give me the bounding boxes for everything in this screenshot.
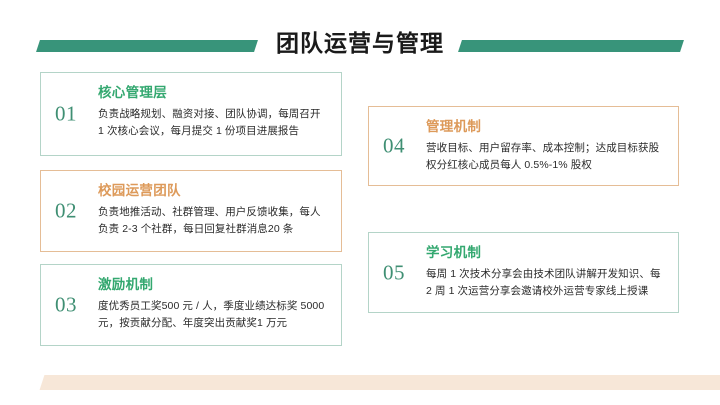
card-description: 度优秀员工奖500 元 / 人，季度业绩达标奖 5000 元，按贡献分配、年度突… xyxy=(98,298,329,332)
card-number: 02 xyxy=(55,201,77,222)
header-accent-bar-right xyxy=(458,40,684,52)
card-heading: 激励机制 xyxy=(98,276,329,294)
slide-canvas: 团队运营与管理 01 核心管理层 负责战略规划、融资对接、团队协调，每周召开 1… xyxy=(0,0,720,405)
card-body: 管理机制 营收目标、用户留存率、成本控制；达成目标获股权分红核心成员每人 0.5… xyxy=(426,118,666,174)
card-description: 负责战略规划、融资对接、团队协调，每周召开 1 次核心会议，每月提交 1 份项目… xyxy=(98,106,329,140)
content-card-05: 05 学习机制 每周 1 次技术分享会由技术团队讲解开发知识、每 2 周 1 次… xyxy=(368,232,679,313)
card-body: 核心管理层 负责战略规划、融资对接、团队协调，每周召开 1 次核心会议，每月提交… xyxy=(98,84,329,140)
card-heading: 学习机制 xyxy=(426,244,666,262)
content-card-02: 02 校园运营团队 负责地推活动、社群管理、用户反馈收集，每人负责 2-3 个社… xyxy=(40,170,342,252)
page-title: 团队运营与管理 xyxy=(260,29,460,57)
card-description: 每周 1 次技术分享会由技术团队讲解开发知识、每 2 周 1 次运营分享会邀请校… xyxy=(426,266,666,300)
card-body: 学习机制 每周 1 次技术分享会由技术团队讲解开发知识、每 2 周 1 次运营分… xyxy=(426,244,666,300)
header-accent-bar-left xyxy=(36,40,258,52)
card-number: 01 xyxy=(55,104,77,125)
card-number: 04 xyxy=(383,136,405,157)
card-heading: 校园运营团队 xyxy=(98,182,329,200)
card-description: 负责地推活动、社群管理、用户反馈收集，每人负责 2-3 个社群，每日回复社群消息… xyxy=(98,204,329,238)
content-card-04: 04 管理机制 营收目标、用户留存率、成本控制；达成目标获股权分红核心成员每人 … xyxy=(368,106,679,186)
footer-accent-bar xyxy=(40,375,720,390)
content-card-03: 03 激励机制 度优秀员工奖500 元 / 人，季度业绩达标奖 5000 元，按… xyxy=(40,264,342,346)
content-card-01: 01 核心管理层 负责战略规划、融资对接、团队协调，每周召开 1 次核心会议，每… xyxy=(40,72,342,156)
card-heading: 管理机制 xyxy=(426,118,666,136)
card-number: 05 xyxy=(383,262,405,283)
card-number: 03 xyxy=(55,295,77,316)
card-description: 营收目标、用户留存率、成本控制；达成目标获股权分红核心成员每人 0.5%-1% … xyxy=(426,140,666,174)
card-body: 校园运营团队 负责地推活动、社群管理、用户反馈收集，每人负责 2-3 个社群，每… xyxy=(98,182,329,238)
card-heading: 核心管理层 xyxy=(98,84,329,102)
card-body: 激励机制 度优秀员工奖500 元 / 人，季度业绩达标奖 5000 元，按贡献分… xyxy=(98,276,329,332)
